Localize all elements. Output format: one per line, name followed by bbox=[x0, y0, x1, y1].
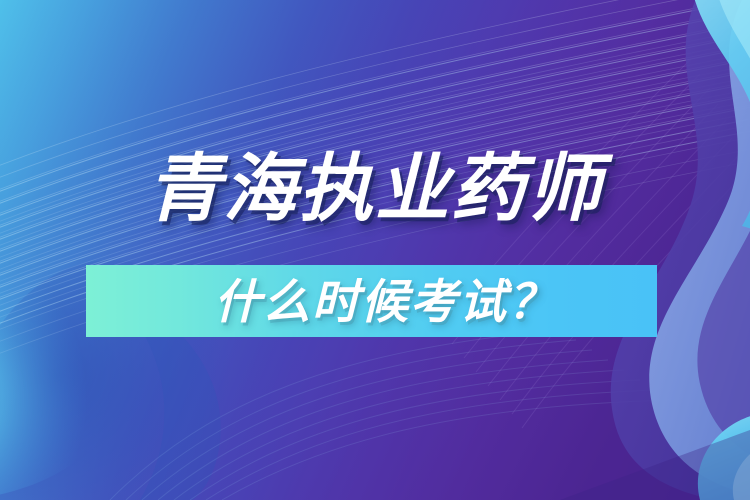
violet-striation bbox=[440, 60, 742, 428]
banner-subtitle: 什么时候考试？ bbox=[214, 278, 557, 325]
background-decoration bbox=[0, 0, 750, 500]
radial-fan-lines bbox=[110, 330, 672, 500]
subtitle-bar: 什么时候考试？ bbox=[86, 265, 657, 337]
right-ribbon-group bbox=[611, 0, 750, 500]
promo-banner: 青海执业药师 什么时候考试？ bbox=[0, 0, 750, 500]
banner-title: 青海执业药师 bbox=[147, 152, 603, 226]
title-block: 青海执业药师 bbox=[0, 152, 750, 226]
